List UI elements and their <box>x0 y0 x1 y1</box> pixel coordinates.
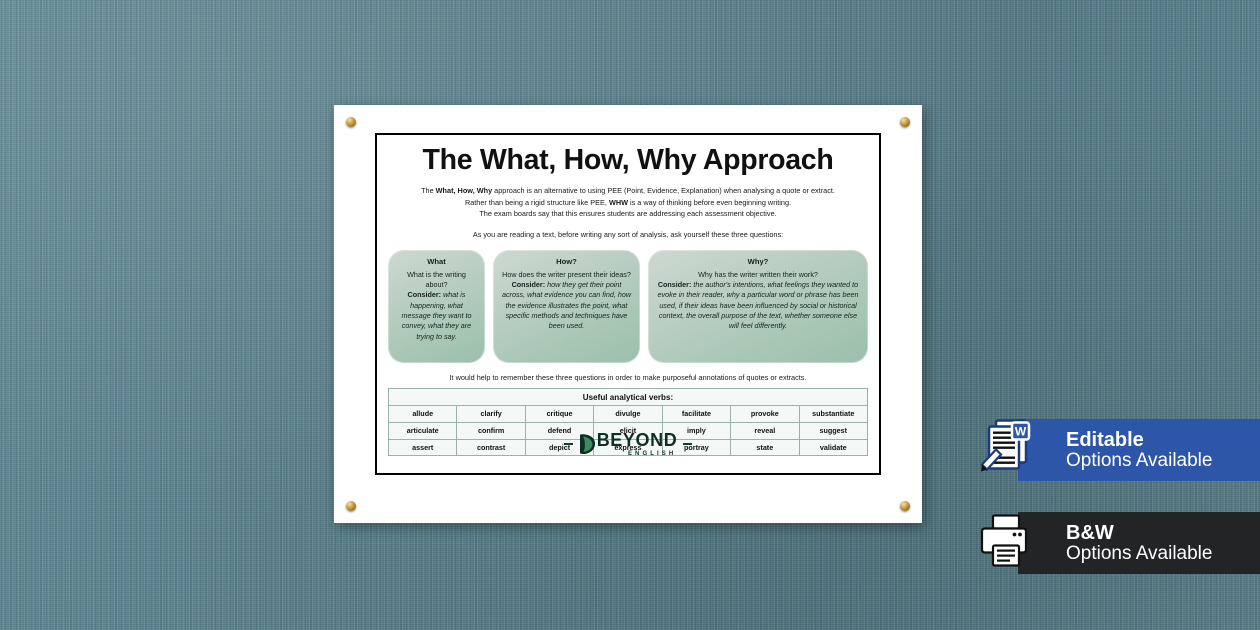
table-cell: clarify <box>457 406 525 423</box>
logo-mark: BEYOND ENGLISH <box>579 431 678 457</box>
question-box-how-consider: Consider: how they get their point acros… <box>502 280 631 330</box>
intro-line-3: The exam boards say that this ensures st… <box>388 208 868 220</box>
logo-word: BEYOND <box>597 431 678 449</box>
bw-options-badge[interactable]: B&W Options Available <box>1018 512 1260 574</box>
consider-label: Consider: <box>512 280 546 289</box>
consider-label: Consider: <box>408 290 442 299</box>
intro-paragraph: The What, How, Why approach is an altern… <box>388 185 868 241</box>
intro-line-1-a: The <box>421 186 436 195</box>
table-cell: divulge <box>594 406 662 423</box>
question-box-why-heading: Why? <box>656 257 860 268</box>
table-cell: substantiate <box>799 406 867 423</box>
intro-line-4: As you are reading a text, before writin… <box>388 229 868 241</box>
table-cell: facilitate <box>662 406 730 423</box>
editable-badge-title: Editable <box>1066 430 1212 451</box>
note-text: It would help to remember these three qu… <box>388 373 868 382</box>
svg-text:W: W <box>1015 425 1027 439</box>
push-pin-bottom-left-icon <box>346 501 356 511</box>
table-header-cell: Useful analytical verbs: <box>389 389 868 406</box>
poster: The What, How, Why Approach The What, Ho… <box>334 105 922 523</box>
editable-badge-text: Editable Options Available <box>1066 430 1212 470</box>
table-cell: allude <box>389 406 457 423</box>
page-title: The What, How, Why Approach <box>388 145 868 176</box>
table-row: alludeclarifycritiquedivulgefacilitatepr… <box>389 406 868 423</box>
bw-badge-title: B&W <box>1066 523 1212 544</box>
intro-line-2: Rather than being a rigid structure like… <box>388 197 868 209</box>
editable-options-badge[interactable]: W Editable Options Available <box>1018 419 1260 481</box>
question-box-how-heading: How? <box>501 257 632 268</box>
logo-wordmark: BEYOND ENGLISH <box>597 431 678 457</box>
table-cell: critique <box>525 406 593 423</box>
question-box-what-question: What is the writing about? <box>396 270 477 291</box>
logo-dash-right-icon <box>683 443 692 445</box>
push-pin-bottom-right-icon <box>900 501 910 511</box>
logo-dash-left-icon <box>564 443 573 445</box>
question-box-why-consider: Consider: the author's intentions, what … <box>658 280 859 330</box>
question-boxes: What What is the writing about? Consider… <box>388 250 868 363</box>
intro-line-1-c: approach is an alternative to using PEE … <box>492 186 835 195</box>
question-box-how: How? How does the writer present their i… <box>493 250 640 363</box>
question-box-how-question: How does the writer present their ideas? <box>501 270 632 280</box>
intro-line-2-bold: WHW <box>609 198 628 207</box>
consider-label: Consider: <box>658 280 692 289</box>
table-header-row: Useful analytical verbs: <box>389 389 868 406</box>
beyond-english-logo: BEYOND ENGLISH <box>377 431 879 457</box>
table-cell: provoke <box>731 406 799 423</box>
intro-line-1-bold: What, How, Why <box>436 186 492 195</box>
question-box-why-question: Why has the writer written their work? <box>656 270 860 280</box>
poster-frame: The What, How, Why Approach The What, Ho… <box>375 133 881 475</box>
leaf-b-icon <box>579 433 596 455</box>
intro-line-2-a: Rather than being a rigid structure like… <box>465 198 609 207</box>
editable-badge-subtitle: Options Available <box>1066 451 1212 471</box>
push-pin-top-left-icon <box>346 117 356 127</box>
push-pin-top-right-icon <box>900 117 910 127</box>
question-box-why: Why? Why has the writer written their wo… <box>648 250 868 363</box>
printer-icon <box>980 510 1036 577</box>
question-box-what: What What is the writing about? Consider… <box>388 250 485 363</box>
question-box-what-heading: What <box>396 257 477 268</box>
bw-badge-text: B&W Options Available <box>1066 523 1212 563</box>
bw-badge-subtitle: Options Available <box>1066 544 1212 564</box>
word-document-icon: W <box>980 417 1036 484</box>
intro-line-2-c: is a way of thinking before even beginni… <box>628 198 791 207</box>
intro-line-1: The What, How, Why approach is an altern… <box>388 185 868 197</box>
question-box-what-consider: Consider: what is happening, what messag… <box>402 290 472 340</box>
logo-subtitle: ENGLISH <box>628 451 676 457</box>
